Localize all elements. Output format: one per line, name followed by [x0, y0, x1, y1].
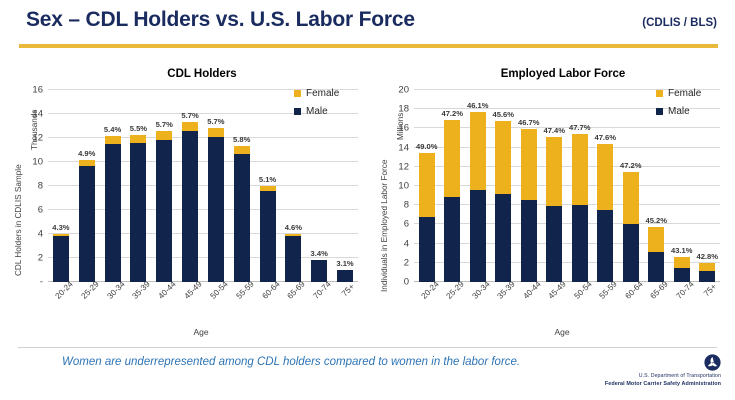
bar-segment-female[interactable] [648, 227, 664, 251]
x-axis-tick-label: 75+ [340, 282, 356, 298]
bar-column[interactable]: 49.0% [414, 90, 440, 282]
stacked-bar[interactable] [444, 120, 460, 282]
x-axis-tick: 60-64 [255, 284, 281, 330]
x-axis-tick-label: 25-29 [79, 280, 100, 301]
bar-value-label: 47.4% [543, 126, 565, 135]
bar-segment-female[interactable] [674, 257, 690, 268]
bar-value-label: 4.6% [285, 223, 302, 232]
bar-segment-female[interactable] [419, 153, 435, 216]
stacked-bar[interactable] [130, 135, 146, 282]
stacked-bar[interactable] [546, 137, 562, 282]
bar-segment-female[interactable] [182, 122, 198, 131]
y-axis-tick-label: 4 [38, 229, 43, 240]
bar-segment-male[interactable] [208, 137, 224, 282]
x-axis-tick: 35-39 [125, 284, 151, 330]
bar-column[interactable]: 5.7% [151, 90, 177, 282]
x-axis-tick-label: 40-44 [157, 280, 178, 301]
bar-segment-male[interactable] [495, 194, 511, 282]
legend-label-male: Male [306, 106, 328, 117]
footer-caption: Women are underrepresented among CDL hol… [62, 356, 520, 368]
x-axis-tick-label: 65-69 [286, 280, 307, 301]
chart-title-left: CDL Holders [2, 68, 372, 80]
bar-segment-male[interactable] [444, 197, 460, 282]
y-axis-tick-label: - [40, 277, 43, 288]
legend-item-female[interactable]: Female [656, 88, 701, 99]
y-axis-tick-label: 10 [32, 157, 43, 168]
x-axis-tick: 45-49 [542, 284, 568, 330]
agency-department-label: U.S. Department of Transportation [531, 373, 721, 379]
bar-column[interactable]: 4.3% [48, 90, 74, 282]
x-axis-tick-label: 70-74 [312, 280, 333, 301]
legend-right: Female Male [656, 88, 701, 117]
bar-value-label: 47.2% [620, 161, 642, 170]
data-source-label: (CDLIS / BLS) [642, 17, 717, 29]
x-axis-tick: 30-34 [100, 284, 126, 330]
x-axis-tick-label: 35-39 [131, 280, 152, 301]
bar-value-label: 3.4% [311, 249, 328, 258]
y-axis-tick-label: 14 [398, 142, 409, 153]
stacked-bar[interactable] [572, 134, 588, 282]
x-axis-ticks-right: 20-2425-2930-3435-3940-4445-4950-5455-59… [414, 284, 720, 330]
bar-value-label: 47.7% [569, 123, 591, 132]
bar-segment-male[interactable] [285, 236, 301, 282]
bar-segment-female[interactable] [572, 134, 588, 205]
bar-segment-female[interactable] [105, 136, 121, 144]
bar-segment-male[interactable] [311, 260, 327, 282]
stacked-bar[interactable] [285, 234, 301, 282]
bar-value-label: 5.7% [156, 120, 173, 129]
dot-triskelion-logo-icon [704, 354, 721, 371]
bar-column[interactable]: 4.9% [74, 90, 100, 282]
x-axis-tick: 40-44 [516, 284, 542, 330]
bar-column[interactable]: 47.4% [542, 90, 568, 282]
stacked-bar[interactable] [260, 186, 276, 282]
x-axis-tick-label: 25-29 [445, 280, 466, 301]
bar-column[interactable]: 46.7% [516, 90, 542, 282]
bar-column[interactable]: 47.7% [567, 90, 593, 282]
bar-value-label: 5.8% [233, 135, 250, 144]
bar-series-group: 49.0%47.2%46.1%45.6%46.7%47.4%47.7%47.6%… [414, 90, 720, 282]
footer-divider [18, 347, 717, 348]
x-axis-ticks-left: 20-2425-2930-3435-3940-4445-4950-5455-59… [48, 284, 358, 330]
x-axis-tick: 50-54 [567, 284, 593, 330]
bar-column[interactable]: 3.1% [332, 90, 358, 282]
header-divider [19, 44, 718, 48]
bar-segment-male[interactable] [470, 190, 486, 282]
plot-area-right: 0246810121416182049.0%47.2%46.1%45.6%46.… [414, 90, 720, 282]
x-axis-tick: 60-64 [618, 284, 644, 330]
x-axis-tick-label: 35-39 [496, 280, 517, 301]
x-axis-tick: 65-69 [280, 284, 306, 330]
bar-segment-female[interactable] [444, 120, 460, 197]
x-axis-tick: 35-39 [491, 284, 517, 330]
bar-value-label: 47.6% [594, 133, 616, 142]
bar-value-label: 5.7% [181, 111, 198, 120]
x-axis-tick: 70-74 [669, 284, 695, 330]
bar-segment-male[interactable] [156, 140, 172, 282]
bar-value-label: 5.1% [259, 175, 276, 184]
y-axis-title-right: Individuals in Employed Labor Force [380, 160, 389, 292]
x-axis-tick-label: 50-54 [572, 280, 593, 301]
bar-value-label: 47.2% [441, 109, 463, 118]
x-axis-tick-label: 40-44 [521, 280, 542, 301]
bar-segment-male[interactable] [699, 271, 715, 282]
bar-segment-male[interactable] [521, 200, 537, 282]
x-axis-title-left: Age [2, 327, 372, 337]
x-axis-tick: 50-54 [203, 284, 229, 330]
agency-logo-block: U.S. Department of Transportation Federa… [531, 354, 721, 387]
y-axis-title-left: CDL Holders in CDLIS Sample [14, 164, 23, 276]
bar-column[interactable]: 43.1% [669, 90, 695, 282]
x-axis-tick-label: 65-69 [649, 280, 670, 301]
legend-swatch-male-icon [294, 108, 301, 115]
x-axis-tick: 75+ [695, 284, 721, 330]
x-axis-tick: 20-24 [48, 284, 74, 330]
bar-value-label: 43.1% [671, 246, 693, 255]
bar-segment-male[interactable] [182, 131, 198, 282]
bar-column[interactable]: 47.2% [440, 90, 466, 282]
y-axis-tick-label: 14 [32, 109, 43, 120]
bar-column[interactable]: 46.1% [465, 90, 491, 282]
bar-value-label: 42.8% [696, 252, 718, 261]
bar-segment-female[interactable] [521, 129, 537, 200]
bar-value-label: 45.2% [645, 216, 667, 225]
bar-segment-female[interactable] [495, 121, 511, 194]
x-axis-tick-label: 30-34 [105, 280, 126, 301]
y-axis-tick-label: 2 [38, 253, 43, 264]
stacked-bar[interactable] [105, 136, 121, 282]
bar-segment-male[interactable] [53, 236, 69, 282]
stacked-bar[interactable] [470, 112, 486, 282]
x-axis-tick: 20-24 [414, 284, 440, 330]
bar-value-label: 5.4% [104, 125, 121, 134]
y-axis-tick-label: 8 [38, 181, 43, 192]
bar-segment-male[interactable] [419, 217, 435, 282]
y-axis-tick-label: 2 [404, 257, 409, 268]
bar-value-label: 46.7% [518, 118, 540, 127]
stacked-bar[interactable] [674, 257, 690, 282]
bar-value-label: 3.1% [336, 259, 353, 268]
x-axis-tick-label: 20-24 [53, 280, 74, 301]
bar-column[interactable]: 47.2% [618, 90, 644, 282]
y-axis-tick-label: 16 [398, 123, 409, 134]
legend-label-female: Female [306, 88, 339, 99]
y-axis-tick-label: 10 [398, 181, 409, 192]
x-axis-tick-label: 60-64 [260, 280, 281, 301]
y-axis-tick-label: 16 [32, 85, 43, 96]
bar-segment-male[interactable] [597, 210, 613, 282]
bar-segment-male[interactable] [130, 143, 146, 282]
bar-column[interactable]: 45.2% [644, 90, 670, 282]
slide-header: Sex – CDL Holders vs. U.S. Labor Force (… [0, 0, 735, 52]
x-axis-tick-label: 20-24 [419, 280, 440, 301]
stacked-bar[interactable] [337, 270, 353, 282]
x-axis-tick-label: 30-34 [470, 280, 491, 301]
x-axis-tick: 55-59 [229, 284, 255, 330]
y-axis-tick-label: 0 [404, 277, 409, 288]
bar-segment-male[interactable] [234, 154, 250, 282]
bar-segment-female[interactable] [208, 128, 224, 137]
bar-column[interactable]: 47.6% [593, 90, 619, 282]
x-axis-tick-label: 55-59 [234, 280, 255, 301]
legend-label-female: Female [668, 88, 701, 99]
x-axis-tick: 70-74 [306, 284, 332, 330]
bar-column[interactable]: 5.8% [229, 90, 255, 282]
x-axis-tick-label: 75+ [702, 282, 718, 298]
chart-title-right: Employed Labor Force [374, 68, 732, 80]
bar-segment-male[interactable] [260, 191, 276, 282]
x-axis-tick: 45-49 [177, 284, 203, 330]
bar-segment-male[interactable] [337, 270, 353, 282]
x-axis-tick-label: 60-64 [623, 280, 644, 301]
bar-value-label: 4.9% [78, 149, 95, 158]
bar-value-label: 49.0% [416, 142, 438, 151]
bar-value-label: 45.6% [492, 110, 514, 119]
y-axis-tick-label: 18 [398, 104, 409, 115]
x-axis-tick: 65-69 [644, 284, 670, 330]
legend-item-female[interactable]: Female [294, 88, 339, 99]
bar-segment-male[interactable] [648, 252, 664, 282]
bar-column[interactable]: 5.1% [255, 90, 281, 282]
bar-value-label: 5.7% [207, 117, 224, 126]
legend-swatch-female-icon [656, 90, 663, 97]
bar-segment-female[interactable] [234, 146, 250, 154]
bar-column[interactable]: 5.4% [100, 90, 126, 282]
bar-segment-male[interactable] [546, 206, 562, 282]
bar-value-label: 46.1% [467, 101, 489, 110]
stacked-bar[interactable] [495, 121, 511, 282]
stacked-bar[interactable] [208, 128, 224, 282]
y-axis-tick-label: 4 [404, 238, 409, 249]
legend-item-male[interactable]: Male [656, 106, 701, 117]
x-axis-tick-label: 50-54 [208, 280, 229, 301]
y-axis-tick-label: 12 [32, 133, 43, 144]
bar-column[interactable]: 4.6% [280, 90, 306, 282]
bar-segment-male[interactable] [572, 205, 588, 282]
y-axis-tick-label: 20 [398, 85, 409, 96]
x-axis-tick-label: 70-74 [674, 280, 695, 301]
legend-label-male: Male [668, 106, 690, 117]
bar-segment-female[interactable] [156, 131, 172, 140]
legend-swatch-male-icon [656, 108, 663, 115]
y-axis-tick-label: 6 [404, 219, 409, 230]
bar-segment-female[interactable] [623, 172, 639, 224]
stacked-bar[interactable] [699, 263, 715, 282]
x-axis-tick: 30-34 [465, 284, 491, 330]
slide-root: Sex – CDL Holders vs. U.S. Labor Force (… [0, 0, 735, 400]
bar-column[interactable]: 5.7% [203, 90, 229, 282]
bar-column[interactable]: 5.7% [177, 90, 203, 282]
x-axis-tick: 25-29 [440, 284, 466, 330]
chart-panel-cdl-holders: CDL Holders CDL Holders in CDLIS Sample … [2, 60, 372, 338]
stacked-bar[interactable] [79, 160, 95, 282]
bar-series-group: 4.3%4.9%5.4%5.5%5.7%5.7%5.7%5.8%5.1%4.6%… [48, 90, 358, 282]
bar-segment-female[interactable] [597, 144, 613, 210]
x-axis-title-right: Age [374, 327, 732, 337]
bar-column[interactable]: 3.4% [306, 90, 332, 282]
bar-column[interactable]: 45.6% [491, 90, 517, 282]
x-axis-tick: 25-29 [74, 284, 100, 330]
plot-area-left: -2468101214164.3%4.9%5.4%5.5%5.7%5.7%5.7… [48, 90, 358, 282]
stacked-bar[interactable] [597, 144, 613, 282]
stacked-bar[interactable] [521, 129, 537, 282]
x-axis-tick-label: 45-49 [183, 280, 204, 301]
chart-panel-employed-labor-force: Employed Labor Force Individuals in Empl… [374, 60, 732, 338]
stacked-bar[interactable] [182, 122, 198, 282]
bar-column[interactable]: 5.5% [125, 90, 151, 282]
stacked-bar[interactable] [234, 146, 250, 282]
stacked-bar[interactable] [156, 131, 172, 282]
x-axis-tick-label: 55-59 [598, 280, 619, 301]
bar-segment-female[interactable] [699, 263, 715, 271]
y-axis-tick-label: 12 [398, 161, 409, 172]
stacked-bar[interactable] [53, 234, 69, 282]
x-axis-tick: 55-59 [593, 284, 619, 330]
stacked-bar[interactable] [648, 227, 664, 282]
bar-segment-female[interactable] [130, 135, 146, 143]
y-axis-tick-label: 6 [38, 205, 43, 216]
x-axis-tick-label: 45-49 [547, 280, 568, 301]
stacked-bar[interactable] [311, 260, 327, 282]
stacked-bar[interactable] [623, 172, 639, 282]
bar-segment-male[interactable] [79, 166, 95, 282]
x-axis-tick: 75+ [332, 284, 358, 330]
bar-value-label: 4.3% [52, 223, 69, 232]
y-axis-tick-label: 8 [404, 200, 409, 211]
legend-swatch-female-icon [294, 90, 301, 97]
bar-segment-female[interactable] [470, 112, 486, 191]
x-axis-tick: 40-44 [151, 284, 177, 330]
bar-segment-male[interactable] [105, 144, 121, 282]
legend-item-male[interactable]: Male [294, 106, 339, 117]
legend-left: Female Male [294, 88, 339, 117]
bar-value-label: 5.5% [130, 124, 147, 133]
bar-column[interactable]: 42.8% [695, 90, 721, 282]
bar-segment-female[interactable] [546, 137, 562, 206]
agency-administration-label: Federal Motor Carrier Safety Administrat… [531, 381, 721, 387]
bar-segment-male[interactable] [623, 224, 639, 282]
page-title: Sex – CDL Holders vs. U.S. Labor Force [26, 8, 415, 32]
stacked-bar[interactable] [419, 153, 435, 282]
